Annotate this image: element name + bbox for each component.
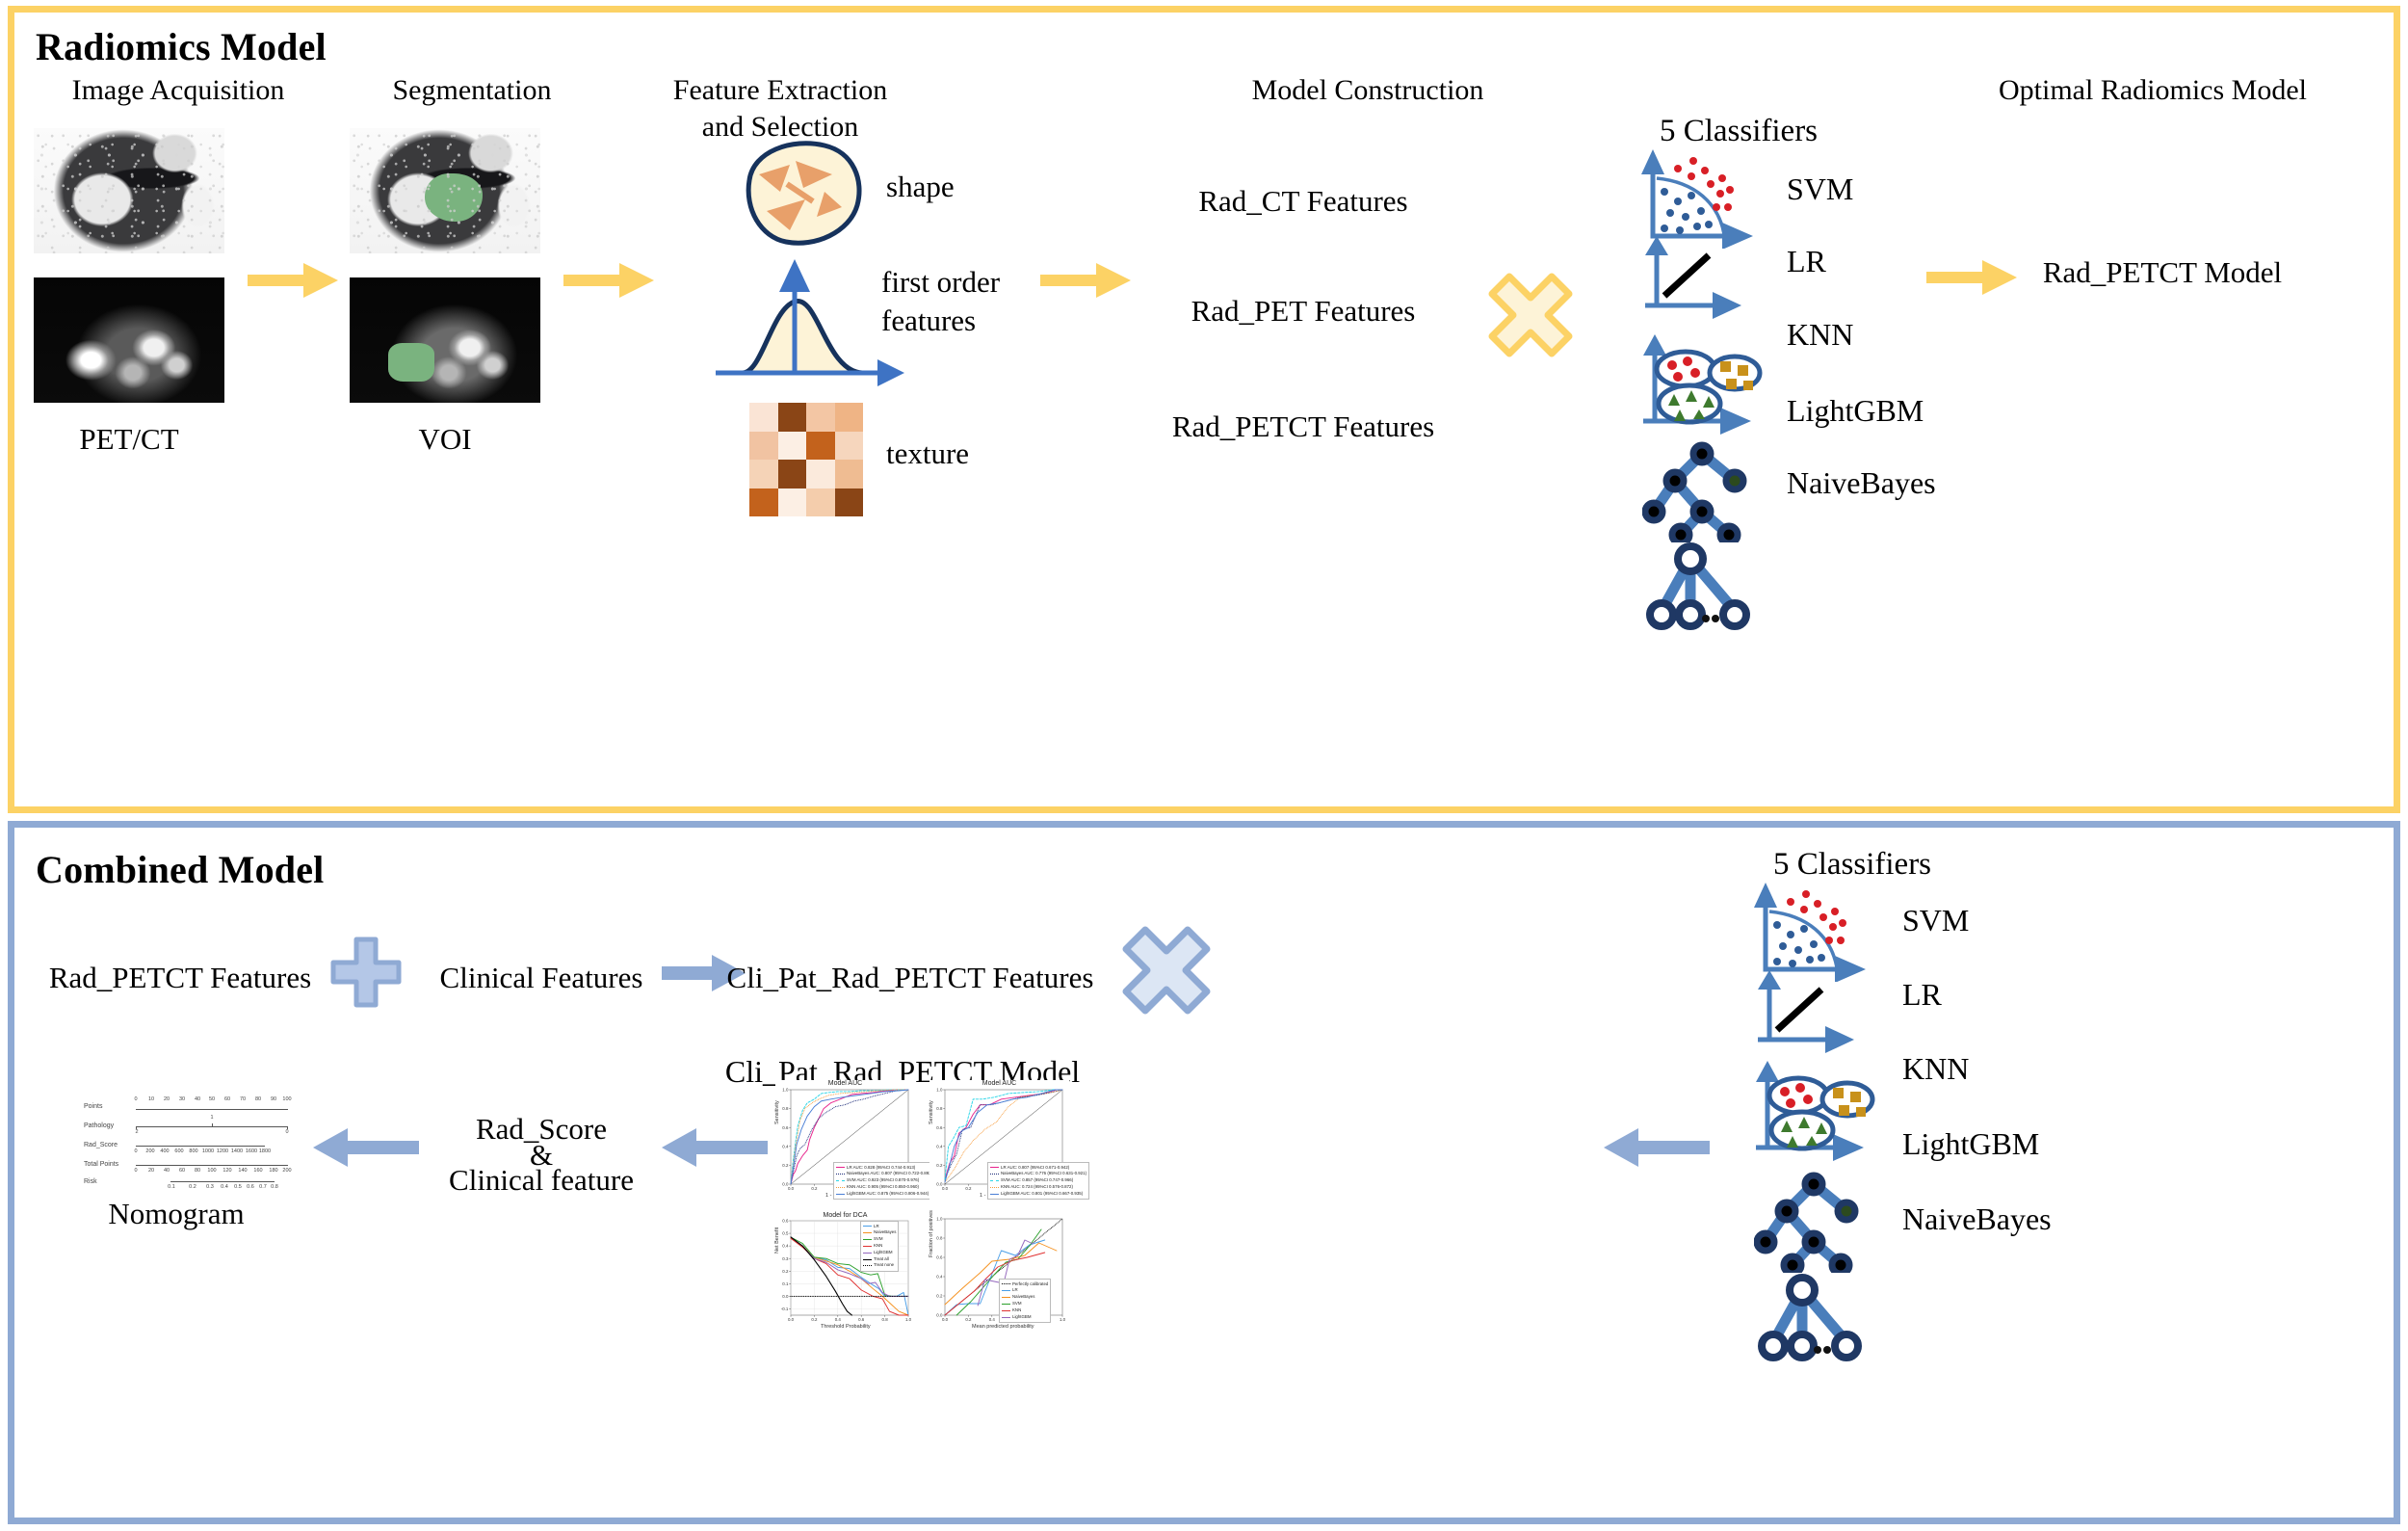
combined-input-rad-petct: Rad_PETCT Features	[49, 961, 311, 995]
nomogram-tick: 2	[135, 1129, 138, 1135]
nomogram-caption: Nomogram	[108, 1197, 244, 1231]
legend-item: SVM AUC: 0.857 (95%CI 0.747-0.966)	[990, 1177, 1086, 1184]
arrow-features-to-model-construction	[1040, 261, 1132, 300]
combined-model-panel: Combined Model Rad_PETCT Features Clinic…	[8, 821, 2400, 1524]
svg-text:0.3: 0.3	[782, 1256, 789, 1261]
nomogram-row-label-points: Points	[84, 1103, 102, 1110]
roc-test-plot: Model AUC Sensitivity 1 - Specificity 0.…	[929, 1080, 1069, 1201]
nomogram-tick: 0.7	[259, 1184, 267, 1190]
svg-text:1.0: 1.0	[782, 1088, 789, 1093]
nomogram-tick: 50	[209, 1096, 215, 1102]
svg-text:0.0: 0.0	[942, 1317, 949, 1322]
nomogram-tick: 1800	[259, 1148, 271, 1154]
roc-test-legend: LR AUC: 0.807 (95%CI 0.671-0.942) NaiveB…	[987, 1162, 1089, 1200]
nomogram-tick: 30	[179, 1096, 185, 1102]
nomogram-tick: 80	[195, 1168, 200, 1174]
nomogram-tick: 200	[282, 1168, 291, 1174]
blob-shape-icon	[732, 136, 867, 250]
svg-text:0.8: 0.8	[882, 1317, 889, 1322]
cross-multiply-icon	[1486, 271, 1575, 359]
pet-image-acquisition	[34, 277, 224, 403]
nomogram-row-label-pathology: Pathology	[84, 1122, 114, 1129]
nomogram-row-label-rad-score: Rad_Score	[84, 1142, 118, 1148]
svg-text:0.0: 0.0	[942, 1186, 949, 1191]
legend-item: SVM	[1002, 1301, 1048, 1307]
roc-train-plot: Model AUC Sensitivity 1 - Specificity 0.…	[775, 1080, 915, 1201]
legend-item: Treat all	[863, 1256, 896, 1263]
svm-icon-combined	[1748, 881, 1873, 982]
svg-text:0.0: 0.0	[936, 1313, 943, 1318]
svg-text:0.8: 0.8	[936, 1106, 943, 1111]
classifier-label-lightgbm: LightGBM	[1787, 393, 1924, 429]
legend-item: Perfectly calibrated	[1002, 1281, 1048, 1288]
optimal-model-label: Rad_PETCT Model	[2043, 255, 2282, 290]
classifiers-heading-combined: 5 Classifiers	[1773, 847, 1931, 883]
feature-set-rad-ct: Rad_CT Features	[1198, 184, 1407, 219]
arrow-plots-to-score	[662, 1128, 768, 1167]
legend-item: KNN AUC: 0.724 (95%CI 0.576-0.872)	[990, 1184, 1086, 1191]
panel-title-combined: Combined Model	[36, 847, 324, 892]
legend-item: LightGBM	[863, 1250, 896, 1256]
naivebayes-icon	[1642, 538, 1766, 634]
arrow-segmentation-to-features	[563, 261, 655, 300]
nomogram-tick: 10	[148, 1096, 154, 1102]
legend-item: NaiveBayes AUC: 0.807 (95%CI 0.722-0.893…	[836, 1171, 932, 1177]
radiomics-model-panel: Radiomics Model Image Acquisition Segmen…	[8, 6, 2400, 813]
dca-legend: LR NaiveBayes SVM KNN LightGBM Treat all…	[860, 1221, 899, 1272]
nomogram-tick: 60	[224, 1096, 230, 1102]
svg-text:0.2: 0.2	[782, 1163, 789, 1168]
nomogram-tick: 140	[238, 1168, 247, 1174]
svg-text:0.0: 0.0	[782, 1294, 789, 1299]
nomogram-tick: 1000	[202, 1148, 214, 1154]
legend-item: LightGBM AUC: 0.801 (95%CI 0.667-0.935)	[990, 1191, 1086, 1198]
nomogram-tick: 100	[282, 1096, 291, 1102]
arrow-to-optimal-model	[1926, 258, 2018, 297]
legend-item: LR AUC: 0.807 (95%CI 0.671-0.942)	[990, 1165, 1086, 1172]
classifier-label-naivebayes-combined: NaiveBayes	[1902, 1201, 2052, 1237]
nomogram-plot: Points 0 10 20 30 40 50 60 70 80 90 100 …	[82, 1090, 294, 1186]
stage-label-segmentation: Segmentation	[332, 72, 612, 109]
svg-text:0.6: 0.6	[936, 1255, 943, 1260]
legend-item: NaiveBayes AUC: 0.776 (95%CI 0.631-0.921…	[990, 1171, 1086, 1177]
classifiers-heading-radiomics: 5 Classifiers	[1660, 114, 1818, 149]
feature-label-texture: texture	[886, 436, 969, 471]
voi-overlay-ct	[425, 173, 483, 222]
nomogram-row-label-total-points: Total Points	[84, 1161, 118, 1168]
nomogram-tick: 160	[253, 1168, 262, 1174]
classifier-label-lr-combined: LR	[1902, 977, 1942, 1013]
nomogram-tick: 0	[134, 1168, 137, 1174]
svg-text:0.4: 0.4	[989, 1317, 996, 1322]
nomogram-tick: 120	[222, 1168, 231, 1174]
nomogram-tick: 20	[148, 1168, 154, 1174]
nomogram-tick: 60	[179, 1168, 185, 1174]
stage-label-image-acquisition: Image Acquisition	[34, 72, 323, 109]
nomogram-tick: 1600	[246, 1148, 257, 1154]
svg-text:0.4: 0.4	[936, 1144, 943, 1148]
figure-root: Radiomics Model Image Acquisition Segmen…	[0, 0, 2408, 1531]
nomogram-tick: 180	[269, 1168, 277, 1174]
calibration-legend: Perfectly calibrated LR NaiveBayes SVM K…	[999, 1279, 1051, 1323]
roc-train-legend: LR AUC: 0.828 (95%CI 0.744-0.913) NaiveB…	[833, 1162, 935, 1200]
naivebayes-icon-combined	[1754, 1269, 1877, 1365]
svg-text:-0.1: -0.1	[781, 1307, 789, 1311]
nomogram-tick: 600	[174, 1148, 183, 1154]
svg-text:0.6: 0.6	[782, 1125, 789, 1130]
svg-text:0.2: 0.2	[965, 1317, 972, 1322]
classifier-label-knn-combined: KNN	[1902, 1051, 1969, 1087]
caption-petct: PET/CT	[79, 422, 178, 457]
knn-icon	[1636, 332, 1766, 440]
legend-item: LR	[863, 1224, 896, 1230]
nomogram-tick: 200	[145, 1148, 154, 1154]
svg-text:0.0: 0.0	[788, 1186, 795, 1191]
texture-matrix-icon	[749, 403, 863, 516]
nomogram-tick: 0	[134, 1096, 137, 1102]
svg-text:0.2: 0.2	[936, 1294, 943, 1299]
legend-item: NaiveBayes	[863, 1229, 896, 1236]
nomogram-tick: 20	[164, 1096, 170, 1102]
nomogram-tick: 0.5	[234, 1184, 242, 1190]
legend-item: KNN	[863, 1243, 896, 1250]
classifier-label-knn: KNN	[1787, 317, 1853, 353]
ct-image-acquisition	[34, 128, 224, 253]
svg-text:0.4: 0.4	[782, 1144, 789, 1148]
svg-text:0.2: 0.2	[811, 1186, 818, 1191]
feature-set-rad-pet: Rad_PET Features	[1191, 294, 1416, 329]
combined-input-clinical: Clinical Features	[440, 961, 643, 995]
classifier-label-lightgbm-combined: LightGBM	[1902, 1126, 2039, 1162]
feature-label-first-order: first order	[881, 265, 1000, 300]
caption-voi: VOI	[418, 422, 471, 457]
classifier-label-svm-combined: SVM	[1902, 903, 1969, 938]
feature-set-rad-petct: Rad_PETCT Features	[1172, 409, 1434, 444]
legend-item: KNN	[1002, 1307, 1048, 1314]
svg-text:0.2: 0.2	[936, 1163, 943, 1168]
nomogram-tick: 0.2	[189, 1184, 196, 1190]
classifier-label-lr: LR	[1787, 244, 1826, 279]
svg-text:0.2: 0.2	[782, 1269, 789, 1274]
legend-item: LR	[1002, 1287, 1048, 1294]
knn-icon-combined	[1748, 1059, 1878, 1167]
legend-item: LightGBM	[1002, 1314, 1048, 1321]
ct-image-segmented	[350, 128, 540, 253]
svg-text:0.8: 0.8	[936, 1236, 943, 1241]
nomogram-tick: 40	[164, 1168, 170, 1174]
nomogram-tick: 800	[189, 1148, 197, 1154]
lr-icon	[1636, 236, 1751, 323]
legend-item: KNN AUC: 0.905 (95%CI 0.850-0.960)	[836, 1184, 932, 1191]
nomogram-tick: 0.8	[271, 1184, 278, 1190]
svg-text:1.0: 1.0	[905, 1317, 912, 1322]
svg-text:0.1: 0.1	[782, 1281, 789, 1286]
svg-text:1.0: 1.0	[936, 1088, 943, 1093]
nomogram-tick: 0.3	[206, 1184, 214, 1190]
nomogram-tick: 0	[134, 1148, 137, 1154]
panel-title-radiomics: Radiomics Model	[36, 24, 327, 69]
nomogram-tick: 400	[160, 1148, 169, 1154]
legend-item: Treat none	[863, 1262, 896, 1269]
svg-text:0.0: 0.0	[788, 1317, 795, 1322]
nomogram-tick: 1400	[231, 1148, 243, 1154]
score-label-clinical-feature: Clinical feature	[449, 1163, 634, 1198]
stage-label-model-construction: Model Construction	[1151, 72, 1584, 109]
classifier-label-naivebayes: NaiveBayes	[1787, 465, 1936, 501]
legend-item: NaiveBayes	[1002, 1294, 1048, 1301]
svg-text:0.2: 0.2	[811, 1317, 818, 1322]
svg-text:0.4: 0.4	[835, 1317, 842, 1322]
svg-text:0.5: 0.5	[782, 1231, 789, 1236]
legend-item: SVM AUC: 0.923 (95%CI 0.870-0.976)	[836, 1177, 932, 1184]
nomogram-tick: 70	[240, 1096, 246, 1102]
svg-text:1.0: 1.0	[1060, 1317, 1066, 1322]
svg-text:0.6: 0.6	[858, 1317, 865, 1322]
voi-overlay-pet	[388, 343, 434, 382]
feature-label-first-order-2: features	[881, 304, 976, 338]
nomogram-row-label-risk: Risk	[84, 1178, 97, 1185]
svg-text:0.6: 0.6	[782, 1219, 789, 1224]
arrow-score-to-nomogram	[313, 1128, 419, 1167]
svg-text:0.4: 0.4	[936, 1275, 943, 1280]
svg-text:0.8: 0.8	[782, 1106, 789, 1111]
dca-plot: Model for DCA Net Benefit Threshold Prob…	[775, 1211, 915, 1332]
nomogram-tick: 100	[207, 1168, 216, 1174]
svg-text:1.0: 1.0	[936, 1217, 943, 1222]
arrow-classifiers-to-plots	[1604, 1128, 1710, 1167]
svg-text:0.6: 0.6	[936, 1125, 943, 1130]
nomogram-tick: 0.4	[221, 1184, 228, 1190]
plus-icon	[327, 934, 405, 1011]
calibration-plot: Fraction of positives Mean predicted pro…	[929, 1211, 1069, 1332]
legend-item: SVM	[863, 1236, 896, 1243]
legend-item: LightGBM AUC: 0.875 (95%CI 0.806-0.944)	[836, 1191, 932, 1198]
cross-multiply-icon-combined	[1120, 924, 1213, 1016]
nomogram-tick: 90	[271, 1096, 276, 1102]
nomogram-tick: 80	[255, 1096, 261, 1102]
svg-text:0.4: 0.4	[782, 1244, 789, 1249]
svg-text:0.0: 0.0	[936, 1182, 943, 1187]
nomogram-tick: 40	[195, 1096, 200, 1102]
nomogram-tick: 1	[210, 1115, 213, 1121]
combined-merged-features: Cli_Pat_Rad_PETCT Features	[727, 961, 1094, 995]
svm-icon	[1636, 147, 1761, 249]
lr-icon-combined	[1748, 970, 1864, 1057]
nomogram-tick: 1200	[217, 1148, 228, 1154]
legend-item: LR AUC: 0.828 (95%CI 0.744-0.913)	[836, 1165, 932, 1172]
svg-text:0.0: 0.0	[782, 1182, 789, 1187]
svg-text:0.2: 0.2	[965, 1186, 972, 1191]
nomogram-tick: 0.6	[247, 1184, 254, 1190]
nomogram-tick: 0	[285, 1129, 288, 1135]
nomogram-tick: 0.1	[168, 1184, 175, 1190]
arrow-acquisition-to-segmentation	[248, 261, 339, 300]
lightgbm-icon	[1642, 435, 1766, 542]
feature-label-shape: shape	[886, 170, 955, 204]
classifier-label-svm: SVM	[1787, 172, 1853, 207]
stage-label-optimal-radiomics-model: Optimal Radiomics Model	[1922, 72, 2384, 109]
pet-image-segmented	[350, 277, 540, 403]
lightgbm-icon-combined	[1754, 1165, 1877, 1273]
